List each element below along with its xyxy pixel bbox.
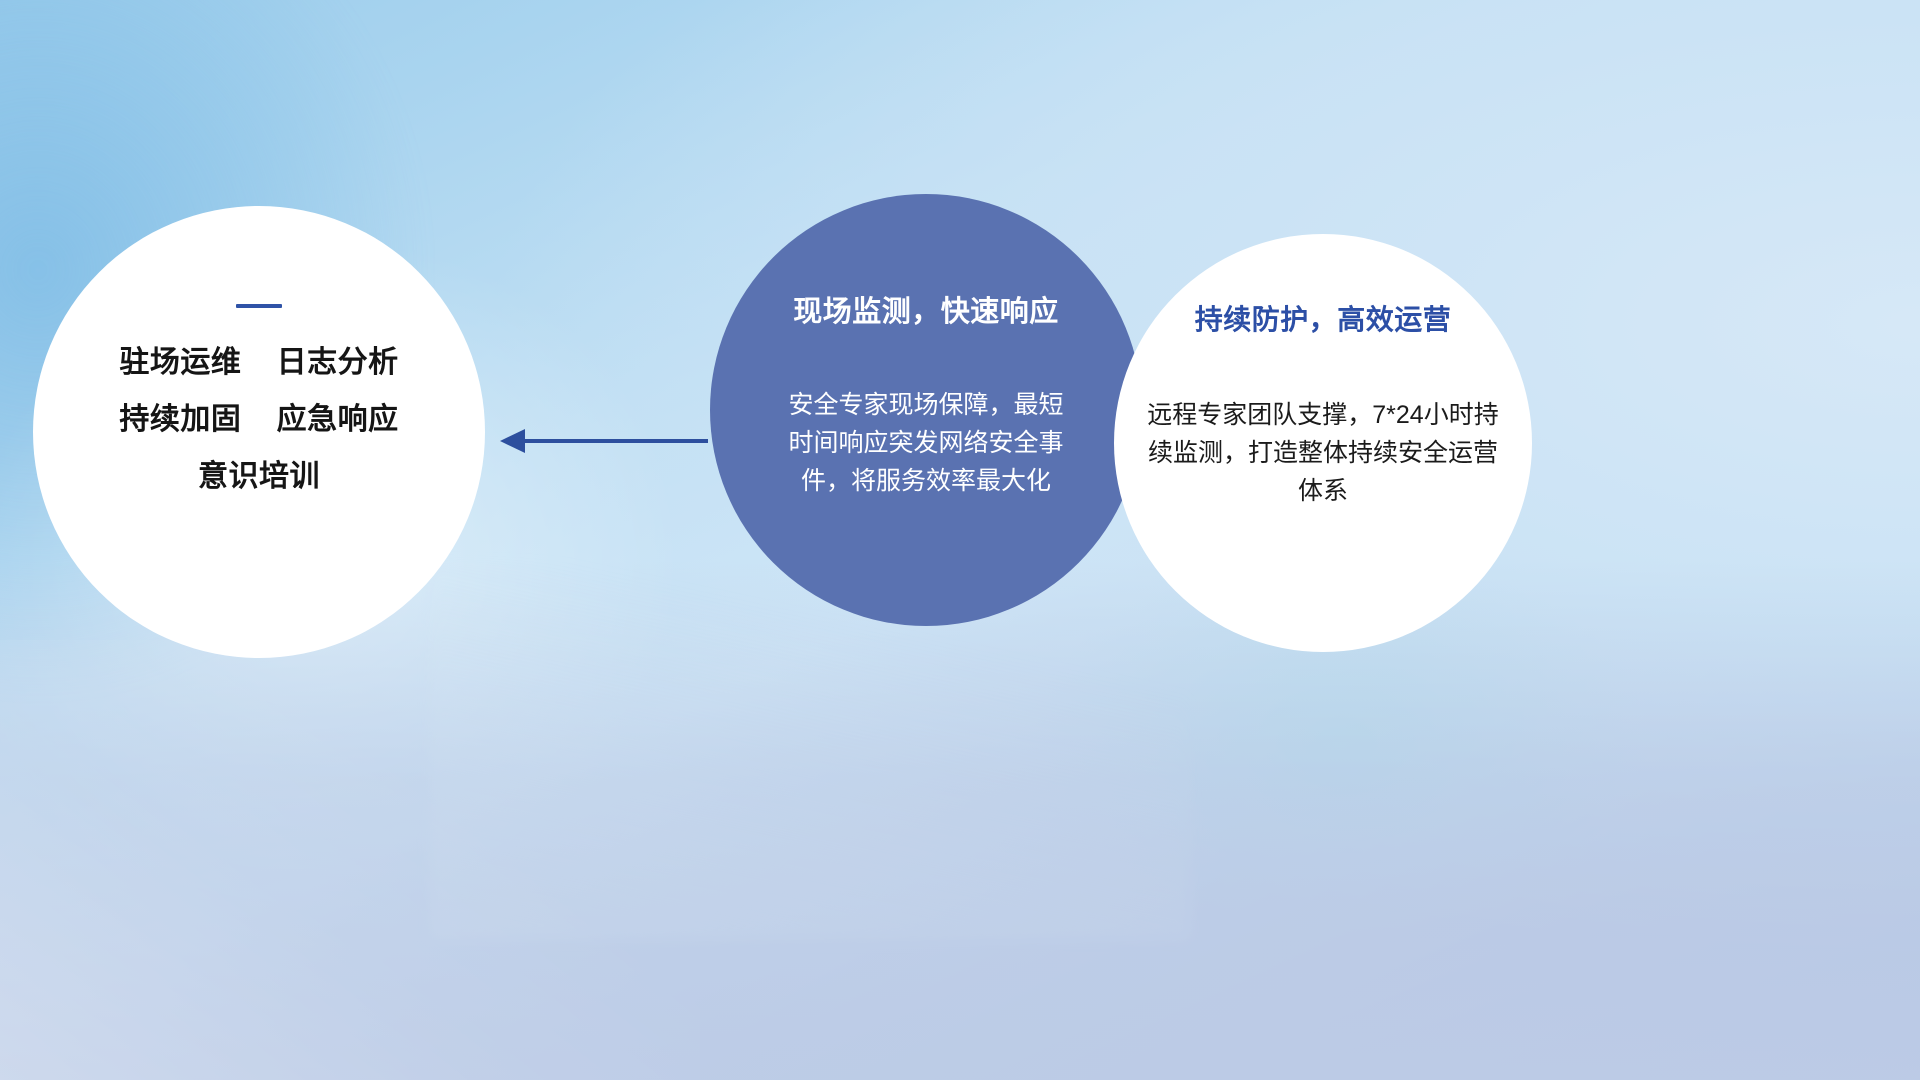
arrow-left-icon xyxy=(494,424,712,458)
dash-divider-icon xyxy=(236,304,282,308)
list-item: 意识培训 xyxy=(119,462,398,492)
right-operations-circle: 持续防护，高效运营 远程专家团队支撑，7*24小时持续监测，打造整体持续安全运营… xyxy=(1114,234,1532,652)
list-item: 持续加固 应急响应 xyxy=(119,405,398,435)
right-circle-body: 远程专家团队支撑，7*24小时持续监测，打造整体持续安全运营体系 xyxy=(1143,396,1503,510)
right-circle-title: 持续防护，高效运营 xyxy=(1195,298,1452,338)
middle-onsite-circle: 现场监测，快速响应 安全专家现场保障，最短时间响应突发网络安全事件，将服务效率最… xyxy=(710,194,1142,626)
left-capability-circle: 驻场运维 日志分析 持续加固 应急响应 意识培训 xyxy=(33,206,485,658)
middle-circle-title: 现场监测，快速响应 xyxy=(793,288,1059,330)
middle-circle-body: 安全专家现场保障，最短时间响应突发网络安全事件，将服务效率最大化 xyxy=(786,386,1066,500)
list-item: 驻场运维 日志分析 xyxy=(119,348,398,378)
background-lower-left-streak xyxy=(0,640,700,1080)
left-circle-capability-list: 驻场运维 日志分析 持续加固 应急响应 意识培训 xyxy=(119,348,398,492)
